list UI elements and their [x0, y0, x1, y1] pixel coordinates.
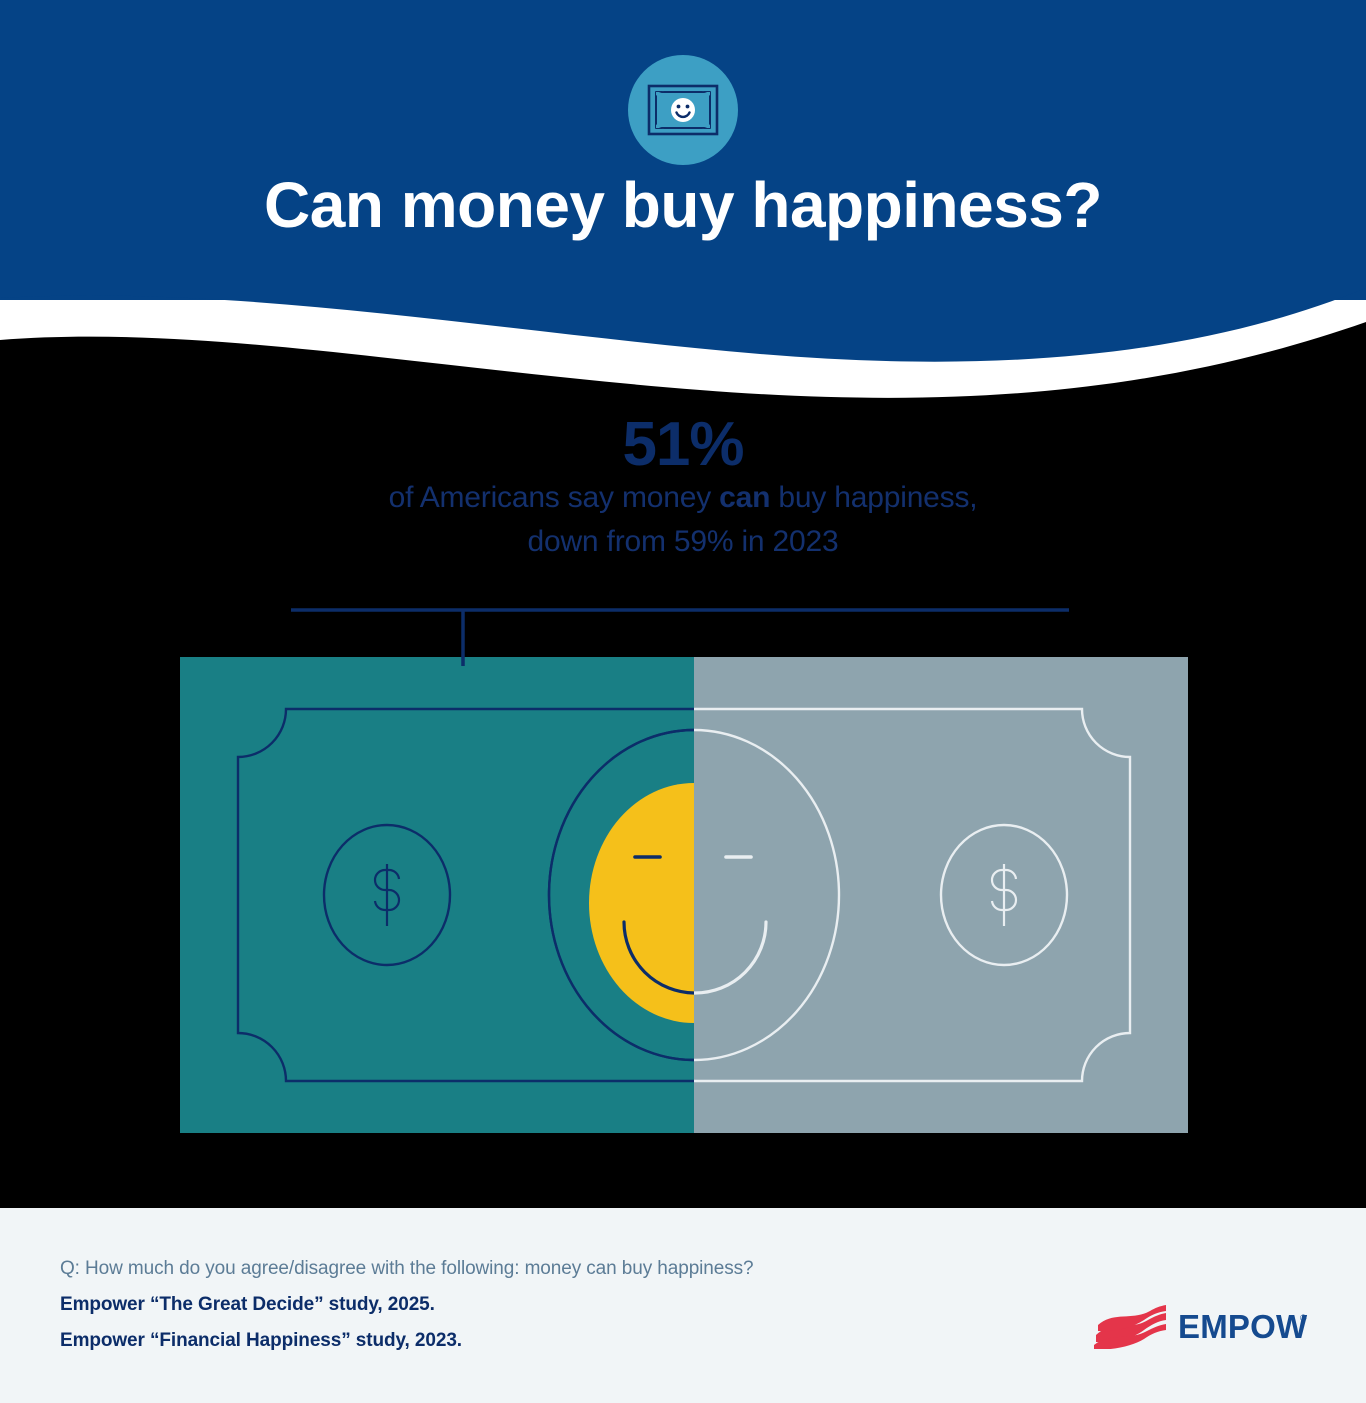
footer-source-2: Empower “Financial Happiness” study, 202… [60, 1330, 462, 1352]
empower-trademark: ® [1300, 1313, 1307, 1323]
stat-desc-prefix: of Americans say money [389, 481, 720, 514]
dollar-bill-smiley-illustration [180, 657, 1188, 1133]
infographic-page: Can money buy happiness? 51% of American… [0, 0, 1366, 1403]
footer-bar: Q: How much do you agree/disagree with t… [0, 1208, 1366, 1403]
footer-source-1: Empower “The Great Decide” study, 2025. [60, 1294, 435, 1316]
footer-question: Q: How much do you agree/disagree with t… [60, 1258, 754, 1280]
stat-description-line-2: down from 59% in 2023 [0, 520, 1366, 564]
money-bill-smiley-icon [628, 55, 738, 165]
stat-percentage: 51% [0, 414, 1366, 476]
stat-block: 51% of Americans say money can buy happi… [0, 414, 1366, 565]
empower-wave-mark [1094, 1305, 1166, 1349]
empower-wordmark: EMPOWER [1178, 1308, 1309, 1345]
stat-desc-suffix: buy happiness, [770, 481, 977, 514]
measure-bracket [291, 608, 1069, 668]
empower-logo: EMPOWER ® [1094, 1301, 1309, 1349]
page-title: Can money buy happiness? [0, 168, 1366, 242]
stat-desc-emphasis: can [719, 481, 770, 514]
stat-description-line-1: of Americans say money can buy happiness… [0, 476, 1366, 520]
bill-glyph [647, 84, 719, 136]
header-wave-edge [0, 262, 1366, 372]
